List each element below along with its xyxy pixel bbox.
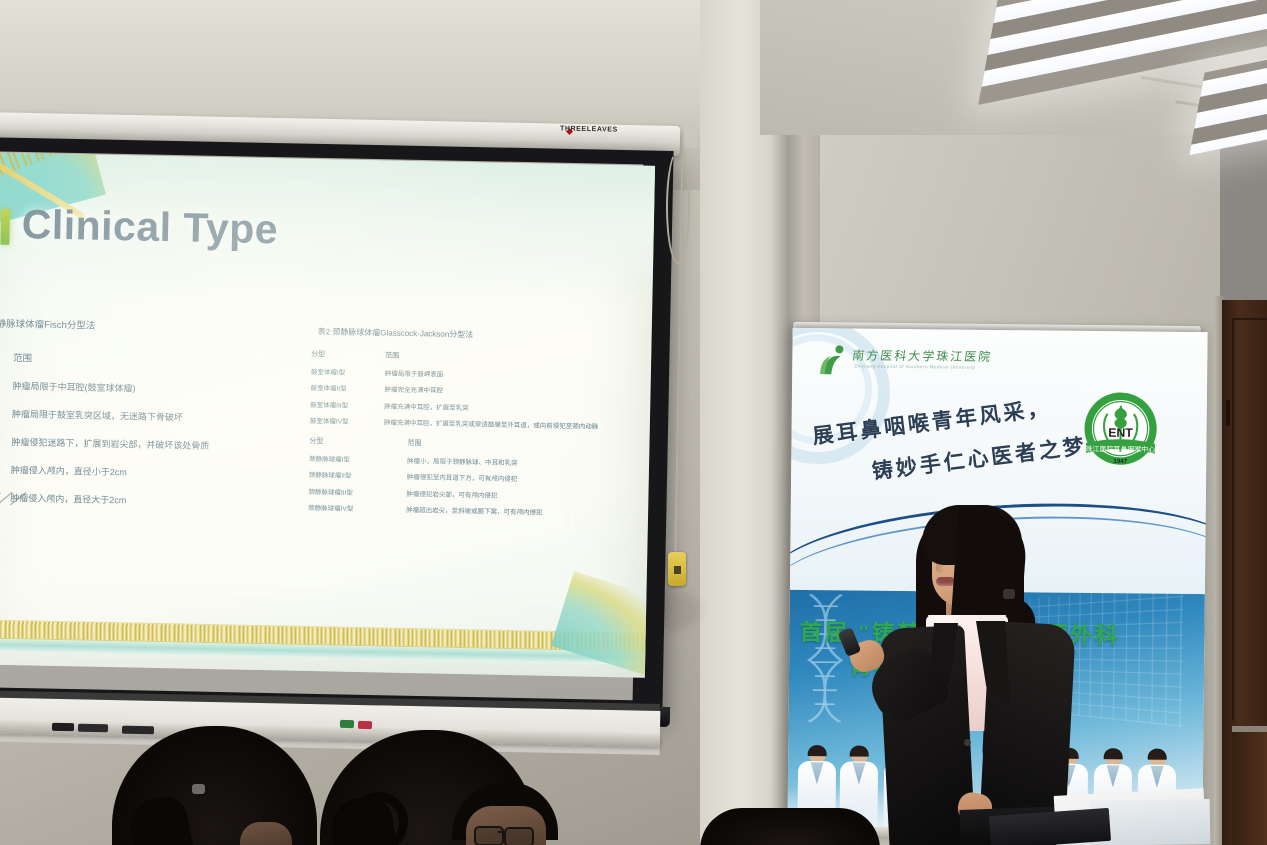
lecture-room-photo: ◆ THREELEAVES Clinical Type 表1 颈静脉球体瘤Fis… bbox=[0, 0, 1267, 845]
right-table-col2-header: 范围 bbox=[407, 438, 421, 448]
left-table-row: 肿瘤局限于中耳腔(鼓室球体瘤) bbox=[12, 379, 294, 398]
right-table-row: 鼓室体瘤II型 肿瘤完全充满中耳腔 bbox=[310, 382, 640, 399]
doctor-hair bbox=[808, 745, 827, 756]
audience-glasses-lens bbox=[474, 826, 504, 845]
left-table-row: 肿瘤局限于鼓室乳突区域，无迷路下骨破坏 bbox=[12, 407, 294, 426]
left-table-caption: 表1 颈静脉球体瘤Fisch分型法 bbox=[0, 315, 296, 336]
left-table-row: 肿瘤侵犯迷路下，扩展到岩尖部，并破坏该处骨质 bbox=[11, 435, 293, 454]
door-hinge bbox=[1226, 400, 1230, 426]
presenter-jacket-button bbox=[964, 739, 971, 746]
audience-glasses-bridge bbox=[498, 831, 506, 833]
slide-title-accent-bar bbox=[0, 209, 10, 245]
screen-bracket bbox=[684, 126, 697, 148]
screen-brand-label: THREELEAVES bbox=[560, 125, 618, 133]
row-range: 肿瘤局限于鼓岬表面 bbox=[385, 367, 444, 378]
screen-pull-switch-button[interactable] bbox=[674, 566, 681, 574]
svg-text:珠江医院耳鼻咽喉中心: 珠江医院耳鼻咽喉中心 bbox=[1086, 444, 1156, 454]
right-table-header-row-2: 分型 范围 bbox=[309, 436, 639, 453]
right-table-grid: 分型 范围 鼓室体瘤I型 肿瘤局限于鼓岬表面 鼓室体瘤II型 肿瘤完全充满中耳腔… bbox=[308, 349, 641, 519]
right-table-col1-header: 分型 bbox=[311, 349, 385, 360]
right-table-row: 颈静脉球瘤III型 肿瘤侵犯岩尖部，可有颅内侵犯 bbox=[308, 485, 638, 502]
right-table-col2-header: 范围 bbox=[385, 350, 399, 360]
row-type: 鼓室体瘤III型 bbox=[310, 399, 384, 410]
row-type: 颈静脉球瘤III型 bbox=[308, 485, 382, 496]
slide-handwriting-mark bbox=[0, 485, 43, 521]
projected-slide: Clinical Type 表1 颈静脉球体瘤Fisch分型法 范围 肿瘤局限于… bbox=[0, 152, 655, 678]
whiteboard-marker-black[interactable] bbox=[78, 724, 108, 733]
right-table-row: 鼓室体瘤IV型 肿瘤充满中耳腔，扩展至乳突或穿透鼓膜至外耳道，或向前侵犯至颈内动… bbox=[310, 415, 640, 432]
left-table-row: 肿瘤侵入颅内，直径小于2cm bbox=[11, 463, 293, 482]
whiteboard-marker-black[interactable] bbox=[52, 723, 74, 731]
row-range: 肿瘤充满中耳腔，扩展至乳突或穿透鼓膜至外耳道，或向前侵犯至颈内动脉 bbox=[384, 416, 599, 430]
audience-member bbox=[700, 808, 880, 845]
ent-department-seal-icon: ENT 珠江医院耳鼻咽喉中心 1947 bbox=[1079, 389, 1162, 472]
right-table-col1-header: 分型 bbox=[309, 436, 383, 447]
presenter-hair-clip bbox=[1003, 589, 1015, 599]
row-range: 肿瘤侵犯至内耳道下方，可有颅内侵犯 bbox=[407, 471, 518, 483]
doctor-hair bbox=[850, 745, 869, 756]
slide-left-table: 表1 颈静脉球体瘤Fisch分型法 范围 肿瘤局限于中耳腔(鼓室球体瘤) 肿瘤局… bbox=[0, 315, 296, 525]
screen-cord-loop bbox=[666, 150, 690, 264]
slide-title: Clinical Type bbox=[21, 201, 278, 253]
hospital-logo-cn: 南方医科大学珠江医院 bbox=[851, 346, 993, 364]
right-table-caption: 表2 颈静脉球体瘤Glasscock-Jackson分型法 bbox=[318, 326, 642, 344]
right-table-row: 颈静脉球瘤I型 肿瘤小，局限于颈静脉球、中耳和乳突 bbox=[309, 452, 639, 469]
whiteboard-marker-black[interactable] bbox=[122, 726, 154, 735]
whiteboard-marker-green[interactable] bbox=[340, 720, 354, 728]
row-type: 颈静脉球瘤II型 bbox=[309, 469, 383, 480]
doctor-hair bbox=[1148, 749, 1167, 760]
hospital-logo-icon bbox=[818, 344, 848, 376]
right-table-header-row: 分型 范围 bbox=[311, 349, 641, 366]
row-range: 肿瘤小，局限于颈静脉球、中耳和乳突 bbox=[407, 454, 518, 466]
left-table-rows: 范围 肿瘤局限于中耳腔(鼓室球体瘤) 肿瘤局限于鼓室乳突区域，无迷路下骨破坏 肿… bbox=[0, 349, 295, 510]
right-table-row: 鼓室体瘤I型 肿瘤局限于鼓岬表面 bbox=[311, 366, 641, 383]
row-type: 鼓室体瘤II型 bbox=[310, 382, 384, 393]
row-range: 肿瘤完全充满中耳腔 bbox=[384, 383, 443, 394]
door-panel-inset bbox=[1232, 318, 1267, 720]
whiteboard-marker-red[interactable] bbox=[358, 721, 372, 729]
row-range: 肿瘤充满中耳腔，扩展至乳突 bbox=[384, 400, 469, 412]
slide-right-table: 表2 颈静脉球体瘤Glasscock-Jackson分型法 分型 范围 鼓室体瘤… bbox=[308, 326, 642, 525]
row-type: 鼓室体瘤IV型 bbox=[310, 415, 384, 426]
audience-face bbox=[240, 822, 292, 845]
audience-glasses-lens bbox=[504, 827, 534, 845]
right-table-row: 鼓室体瘤III型 肿瘤充满中耳腔，扩展至乳突 bbox=[310, 399, 640, 416]
presenter-mouth bbox=[936, 577, 955, 586]
right-table-row: 颈静脉球瘤IV型 肿瘤超出岩尖，至斜坡或颞下窝，可有颅内侵犯 bbox=[308, 502, 638, 519]
right-table-row: 颈静脉球瘤II型 肿瘤侵犯至内耳道下方，可有颅内侵犯 bbox=[309, 469, 639, 486]
row-range: 肿瘤侵犯岩尖部，可有颅内侵犯 bbox=[406, 487, 497, 499]
audience-hair-tie bbox=[192, 784, 205, 794]
svg-text:1947: 1947 bbox=[1113, 458, 1127, 465]
left-table-row: 肿瘤侵入颅内，直径大于2cm bbox=[10, 491, 292, 510]
svg-text:ENT: ENT bbox=[1108, 426, 1133, 440]
row-type: 颈静脉球瘤I型 bbox=[309, 452, 383, 463]
door-lower-panel bbox=[1232, 732, 1267, 845]
row-range: 肿瘤超出岩尖，至斜坡或颞下窝，可有颅内侵犯 bbox=[406, 504, 543, 517]
row-type: 鼓室体瘤I型 bbox=[311, 366, 385, 377]
row-type: 颈静脉球瘤IV型 bbox=[308, 502, 382, 513]
left-table-header: 范围 bbox=[13, 350, 295, 370]
